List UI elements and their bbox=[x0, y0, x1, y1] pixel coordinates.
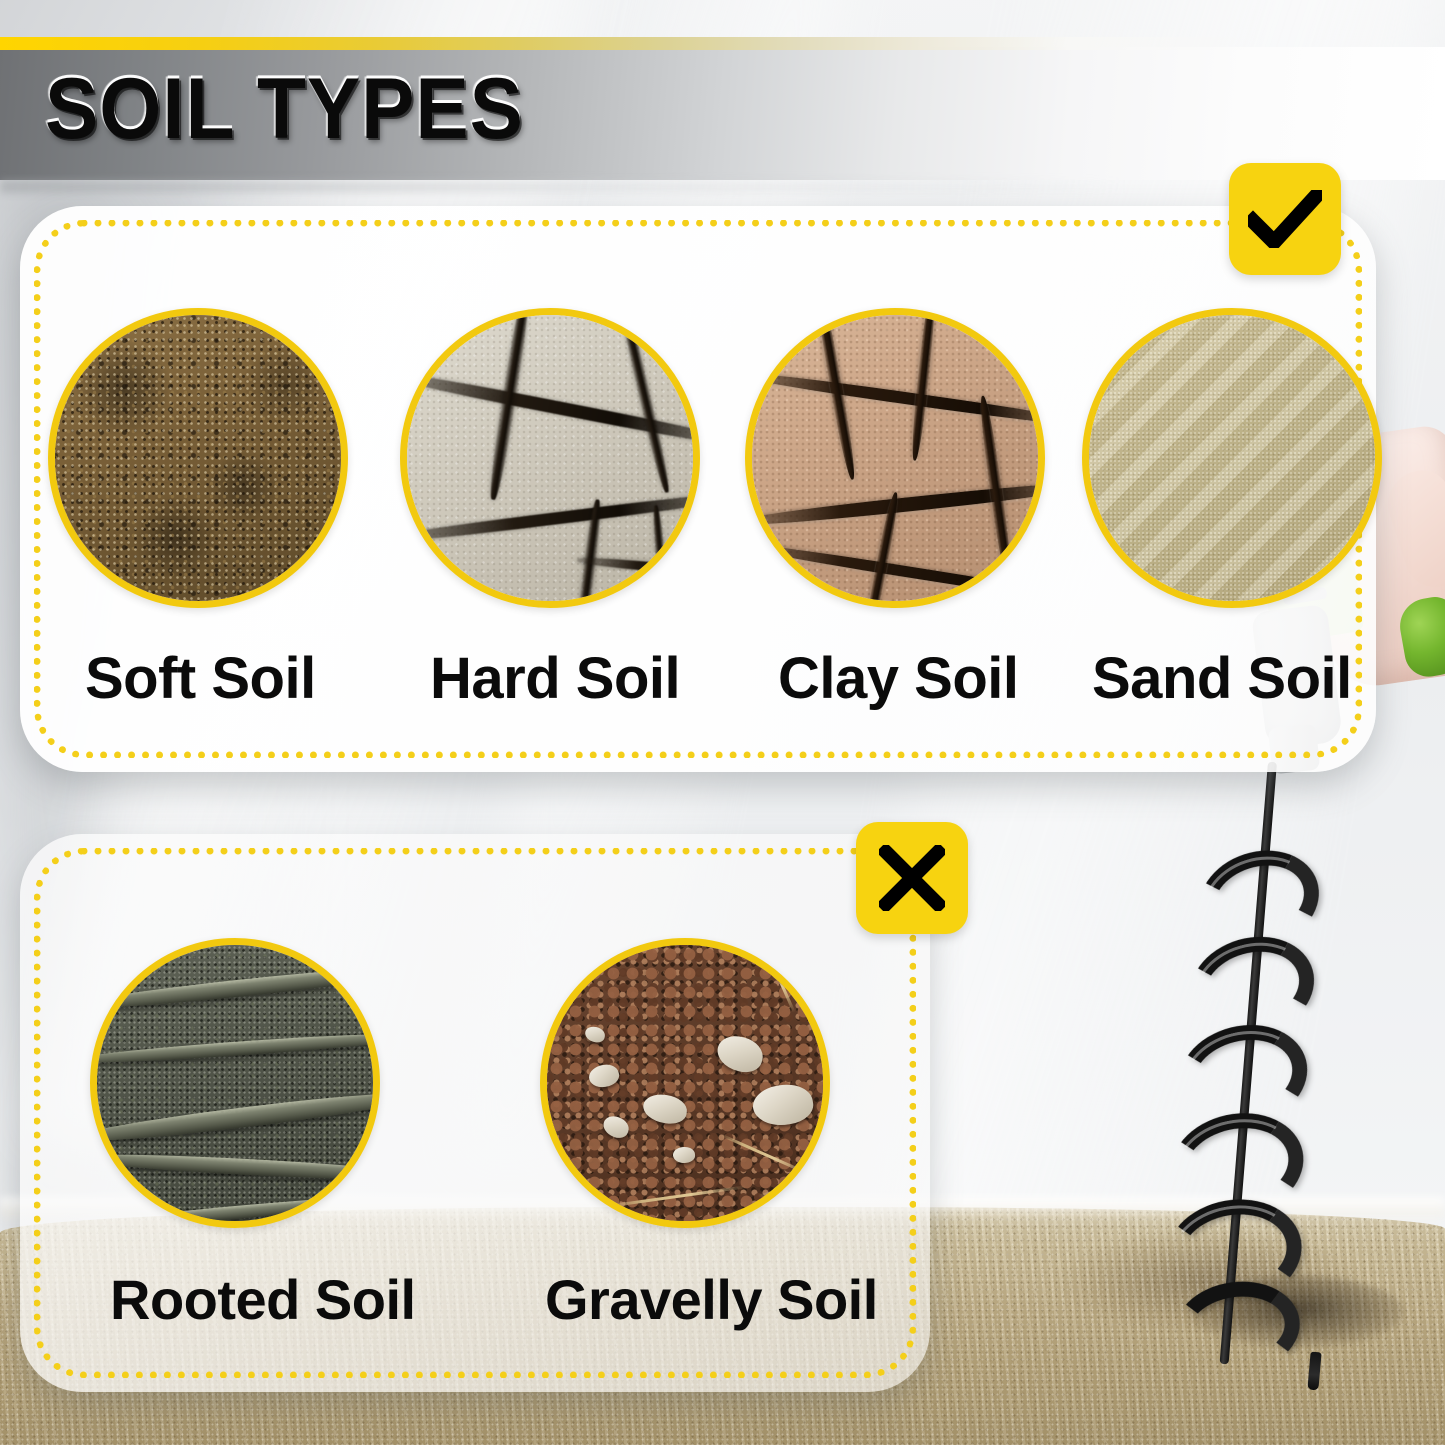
check-icon bbox=[1248, 190, 1322, 248]
soil-label-gravelly: Gravelly Soil bbox=[545, 1272, 878, 1328]
x-icon bbox=[879, 845, 945, 911]
soil-label-hard: Hard Soil bbox=[430, 650, 680, 708]
soil-image-gravelly bbox=[540, 938, 830, 1228]
infographic-canvas: SOIL TYPES bbox=[0, 0, 1445, 1445]
soil-label-soft: Soft Soil bbox=[85, 650, 316, 708]
soil-label-sand: Sand Soil bbox=[1092, 650, 1352, 708]
soil-image-rooted bbox=[90, 938, 380, 1228]
soft-soil-texture bbox=[55, 315, 341, 601]
soil-image-sand bbox=[1082, 308, 1382, 608]
soil-label-rooted: Rooted Soil bbox=[110, 1272, 416, 1328]
header-yellow-stripe bbox=[0, 37, 1445, 50]
suitable-badge bbox=[1229, 163, 1341, 275]
soil-image-soft bbox=[48, 308, 348, 608]
hard-soil-texture bbox=[407, 315, 693, 601]
soil-image-hard bbox=[400, 308, 700, 608]
unsuitable-badge bbox=[856, 822, 968, 934]
soil-label-clay: Clay Soil bbox=[778, 650, 1018, 708]
page-title: SOIL TYPES bbox=[45, 66, 524, 152]
sand-soil-texture bbox=[1089, 315, 1375, 601]
soil-image-clay bbox=[745, 308, 1045, 608]
